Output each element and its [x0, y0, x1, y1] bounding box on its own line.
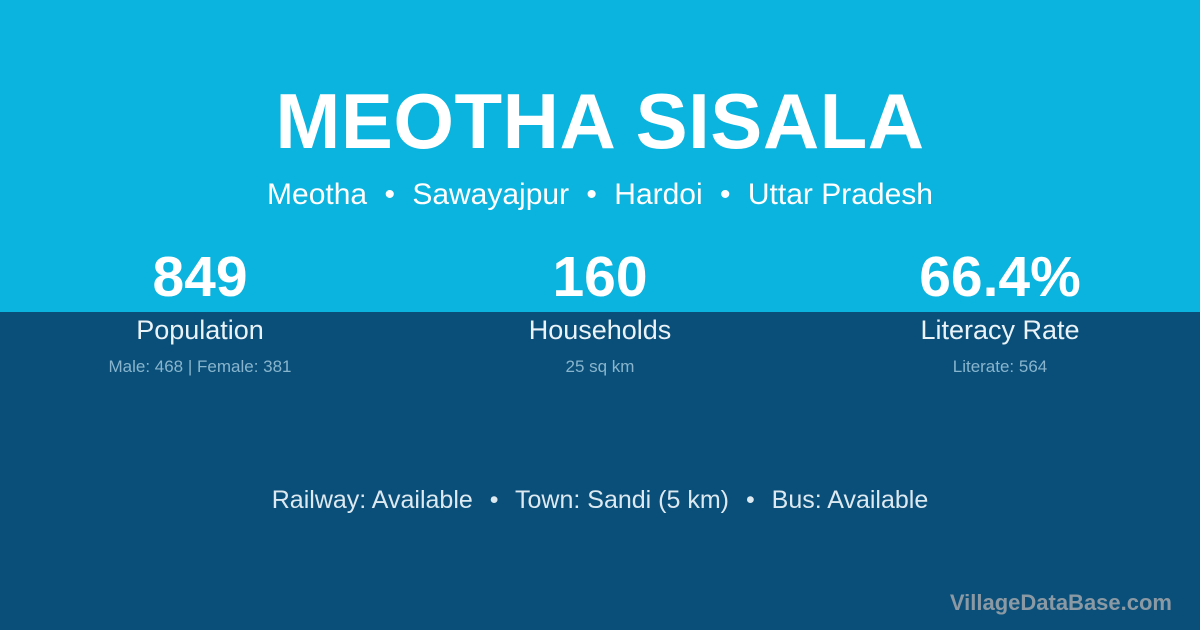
- amenity-separator: •: [480, 486, 509, 514]
- stat-block-population: 849 Population Male: 468 | Female: 381: [0, 246, 400, 378]
- stat-label-literacy: Literacy Rate: [800, 308, 1200, 347]
- page-title: MEOTHA SISALA: [0, 0, 1200, 160]
- stat-sub-literacy: Literate: 564: [800, 347, 1200, 378]
- village-info-card: MEOTHA SISALA Meotha • Sawayajpur • Hard…: [0, 0, 1200, 630]
- site-brand-watermark: VillageDataBase.com: [950, 590, 1172, 616]
- stat-value-population: 849: [0, 246, 400, 308]
- stat-sub-population: Male: 468 | Female: 381: [0, 347, 400, 378]
- amenity-railway: Railway: Available: [272, 486, 473, 514]
- breadcrumb-item-district: Hardoi: [614, 178, 702, 211]
- amenity-bus: Bus: Available: [772, 486, 929, 514]
- amenities-line: Railway: Available • Town: Sandi (5 km) …: [0, 485, 1200, 515]
- stat-block-households: 160 Households 25 sq km: [400, 246, 800, 378]
- breadcrumb-item-village: Meotha: [267, 178, 367, 211]
- breadcrumb: Meotha • Sawayajpur • Hardoi • Uttar Pra…: [0, 160, 1200, 210]
- breadcrumb-item-block: Sawayajpur: [412, 178, 569, 211]
- breadcrumb-separator: •: [711, 178, 740, 211]
- stat-sub-households: 25 sq km: [400, 347, 800, 378]
- amenity-town: Town: Sandi (5 km): [515, 486, 729, 514]
- stat-label-households: Households: [400, 308, 800, 347]
- stat-label-population: Population: [0, 308, 400, 347]
- stat-value-households: 160: [400, 246, 800, 308]
- stat-block-literacy: 66.4% Literacy Rate Literate: 564: [800, 246, 1200, 378]
- breadcrumb-separator: •: [577, 178, 606, 211]
- card-header: MEOTHA SISALA Meotha • Sawayajpur • Hard…: [0, 0, 1200, 210]
- amenity-separator: •: [736, 486, 765, 514]
- breadcrumb-item-state: Uttar Pradesh: [748, 178, 933, 211]
- stats-row: 849 Population Male: 468 | Female: 381 1…: [0, 246, 1200, 378]
- breadcrumb-separator: •: [375, 178, 404, 211]
- stat-value-literacy: 66.4%: [800, 246, 1200, 308]
